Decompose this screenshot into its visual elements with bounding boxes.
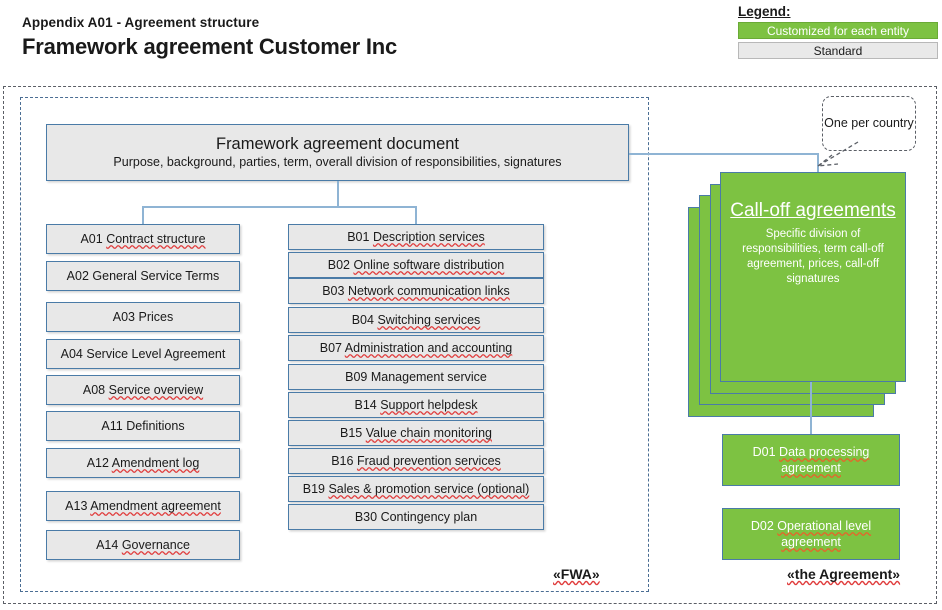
box-a12[interactable]: A12 Amendment log	[46, 448, 240, 478]
box-b30[interactable]: B30 Contingency plan	[288, 504, 544, 530]
box-a04-code: A04	[61, 347, 83, 361]
box-a08-label: Service overview	[109, 383, 203, 397]
box-a02[interactable]: A02 General Service Terms	[46, 261, 240, 291]
box-b15-code: B15	[340, 426, 362, 440]
box-b30-code: B30	[355, 510, 377, 524]
label-fwa: «FWA»	[553, 566, 600, 582]
connector-branch-horizontal	[142, 206, 416, 208]
box-a11-label: Definitions	[126, 419, 184, 433]
box-b19[interactable]: B19 Sales & promotion service (optional)	[288, 476, 544, 502]
box-a01-code: A01	[80, 232, 102, 246]
label-the-agreement: «the Agreement»	[787, 566, 900, 582]
box-b02-label: Online software distribution	[353, 258, 504, 272]
appendix-label: Appendix A01 - Agreement structure	[22, 15, 259, 30]
page-title-text: Framework agreement Customer Inc	[22, 34, 397, 59]
box-d01-label: Data processing agreement	[779, 445, 869, 475]
box-b01[interactable]: B01 Description services	[288, 224, 544, 250]
legend-title: Legend:	[738, 4, 938, 19]
label-fwa-text: «FWA»	[553, 566, 600, 582]
box-a08[interactable]: A08 Service overview	[46, 375, 240, 405]
box-b02-code: B02	[328, 258, 350, 272]
box-b04-label: Switching services	[377, 313, 480, 327]
label-the-agreement-text: «the Agreement»	[787, 566, 900, 582]
calloff-subtitle: Specific division of responsibilities, t…	[721, 227, 905, 287]
box-b02[interactable]: B02 Online software distribution	[288, 252, 544, 278]
box-d02-code: D02	[751, 519, 774, 533]
box-b15[interactable]: B15 Value chain monitoring	[288, 420, 544, 446]
box-a04-label: Service Level Agreement	[86, 347, 225, 361]
box-b30-label: Contingency plan	[381, 510, 478, 524]
box-b03[interactable]: B03 Network communication links	[288, 278, 544, 304]
callout-tail-icon	[812, 140, 862, 170]
calloff-stack-card-front[interactable]: Call-off agreements Specific division of…	[720, 172, 906, 382]
box-a12-label: Amendment log	[112, 456, 200, 470]
box-b19-code: B19	[303, 482, 325, 496]
box-a13-label: Amendment agreement	[90, 499, 221, 513]
connector-calloff-to-d01	[810, 382, 812, 434]
connector-branch-b	[415, 206, 417, 224]
box-b16-label: Fraud prevention services	[357, 454, 501, 468]
box-a01[interactable]: A01 Contract structure	[46, 224, 240, 254]
box-b01-code: B01	[347, 230, 369, 244]
box-b19-label: Sales & promotion service (optional)	[328, 482, 529, 496]
framework-agreement-document-box[interactable]: Framework agreement document Purpose, ba…	[46, 124, 629, 181]
box-a01-label: Contract structure	[106, 232, 205, 246]
box-b03-label: Network communication links	[348, 284, 510, 298]
box-d01-code: D01	[753, 445, 776, 459]
box-a03-code: A03	[113, 310, 135, 324]
box-a02-code: A02	[67, 269, 89, 283]
box-b14[interactable]: B14 Support helpdesk	[288, 392, 544, 418]
box-b09-code: B09	[345, 370, 367, 384]
connector-trunk-vertical	[337, 181, 339, 207]
framework-document-title: Framework agreement document	[216, 135, 459, 154]
box-a04[interactable]: A04 Service Level Agreement	[46, 339, 240, 369]
box-b14-code: B14	[354, 398, 376, 412]
connector-doc-to-calloff-horizontal	[629, 153, 819, 155]
box-a11[interactable]: A11 Definitions	[46, 411, 240, 441]
box-a03-label: Prices	[139, 310, 174, 324]
legend-item-standard: Standard	[738, 42, 938, 59]
box-b07-label: Administration and accounting	[345, 341, 512, 355]
box-b03-code: B03	[322, 284, 344, 298]
box-a14-label: Governance	[122, 538, 190, 552]
box-b01-label: Description services	[373, 230, 485, 244]
framework-document-subtitle: Purpose, background, parties, term, over…	[113, 154, 561, 170]
box-b07[interactable]: B07 Administration and accounting	[288, 335, 544, 361]
box-d02[interactable]: D02 Operational level agreement	[722, 508, 900, 560]
box-a14-code: A14	[96, 538, 118, 552]
box-a13[interactable]: A13 Amendment agreement	[46, 491, 240, 521]
box-b16-code: B16	[331, 454, 353, 468]
connector-branch-a	[142, 206, 144, 224]
box-a12-code: A12	[87, 456, 109, 470]
page-title: Framework agreement Customer Inc	[22, 34, 397, 60]
box-b04-code: B04	[352, 313, 374, 327]
legend-item-customized: Customized for each entity	[738, 22, 938, 39]
box-a08-code: A08	[83, 383, 105, 397]
legend: Legend: Customized for each entity Stand…	[738, 4, 938, 62]
box-b09-label: Management service	[371, 370, 487, 384]
callout-text: One per country	[824, 116, 914, 131]
calloff-agreements-stack[interactable]: Call-off agreements Specific division of…	[688, 172, 918, 417]
box-b16[interactable]: B16 Fraud prevention services	[288, 448, 544, 474]
box-b04[interactable]: B04 Switching services	[288, 307, 544, 333]
box-a13-code: A13	[65, 499, 87, 513]
box-b15-label: Value chain monitoring	[366, 426, 492, 440]
box-d01[interactable]: D01 Data processing agreement	[722, 434, 900, 486]
box-a03[interactable]: A03 Prices	[46, 302, 240, 332]
box-a02-label: General Service Terms	[92, 269, 219, 283]
box-b14-label: Support helpdesk	[380, 398, 477, 412]
box-b07-code: B07	[320, 341, 342, 355]
box-d02-label: Operational level agreement	[777, 519, 871, 549]
box-a14[interactable]: A14 Governance	[46, 530, 240, 560]
box-a11-code: A11	[101, 419, 122, 433]
box-b09[interactable]: B09 Management service	[288, 364, 544, 390]
calloff-title: Call-off agreements	[730, 199, 895, 223]
